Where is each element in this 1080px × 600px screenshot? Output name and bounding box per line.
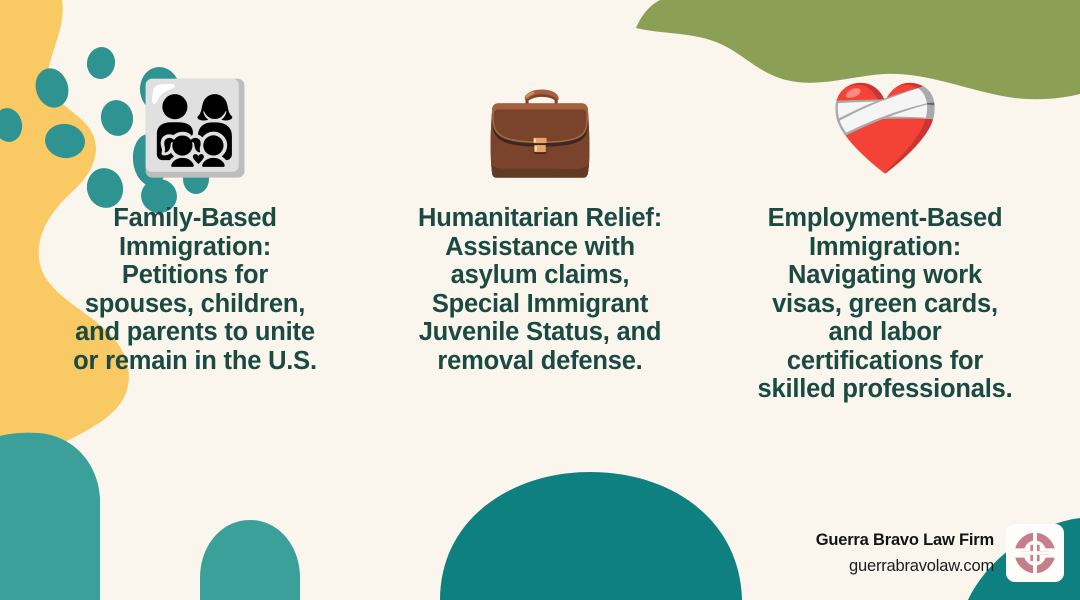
brand-footer: Guerra Bravo Law Firm guerrabravolaw.com <box>816 524 1064 582</box>
firm-website[interactable]: guerrabravolaw.com <box>849 557 994 576</box>
column-employment-based-text: Employment-Based Immigration: Navigating… <box>758 204 1013 404</box>
poster-canvas: 👨‍👩‍👧‍👦 Family-Based Immigration: Petiti… <box>0 0 1080 600</box>
column-employment-based: ❤️‍🩹 Employment-Based Immigration: Navig… <box>720 70 1050 404</box>
teal-arch-left <box>0 433 100 600</box>
column-family-based: 👨‍👩‍👧‍👦 Family-Based Immigration: Petiti… <box>30 70 360 375</box>
column-humanitarian-relief: 💼 Humanitarian Relief: Assistance with a… <box>375 70 705 375</box>
firm-name: Guerra Bravo Law Firm <box>816 531 994 550</box>
mending-heart-emoji: ❤️‍🩹 <box>829 70 941 188</box>
family-emoji: 👨‍👩‍👧‍👦 <box>139 70 251 188</box>
guerra-bravo-emblem-icon <box>1012 530 1058 576</box>
column-family-based-text: Family-Based Immigration: Petitions for … <box>73 204 317 375</box>
brand-text-block: Guerra Bravo Law Firm guerrabravolaw.com <box>816 531 994 576</box>
brand-logo <box>1006 524 1064 582</box>
service-columns: 👨‍👩‍👧‍👦 Family-Based Immigration: Petiti… <box>0 70 1080 404</box>
column-humanitarian-relief-text: Humanitarian Relief: Assistance with asy… <box>418 204 662 375</box>
teal-arch-center <box>200 520 300 600</box>
dark-teal-dome <box>440 472 742 600</box>
briefcase-emoji: 💼 <box>484 70 596 188</box>
